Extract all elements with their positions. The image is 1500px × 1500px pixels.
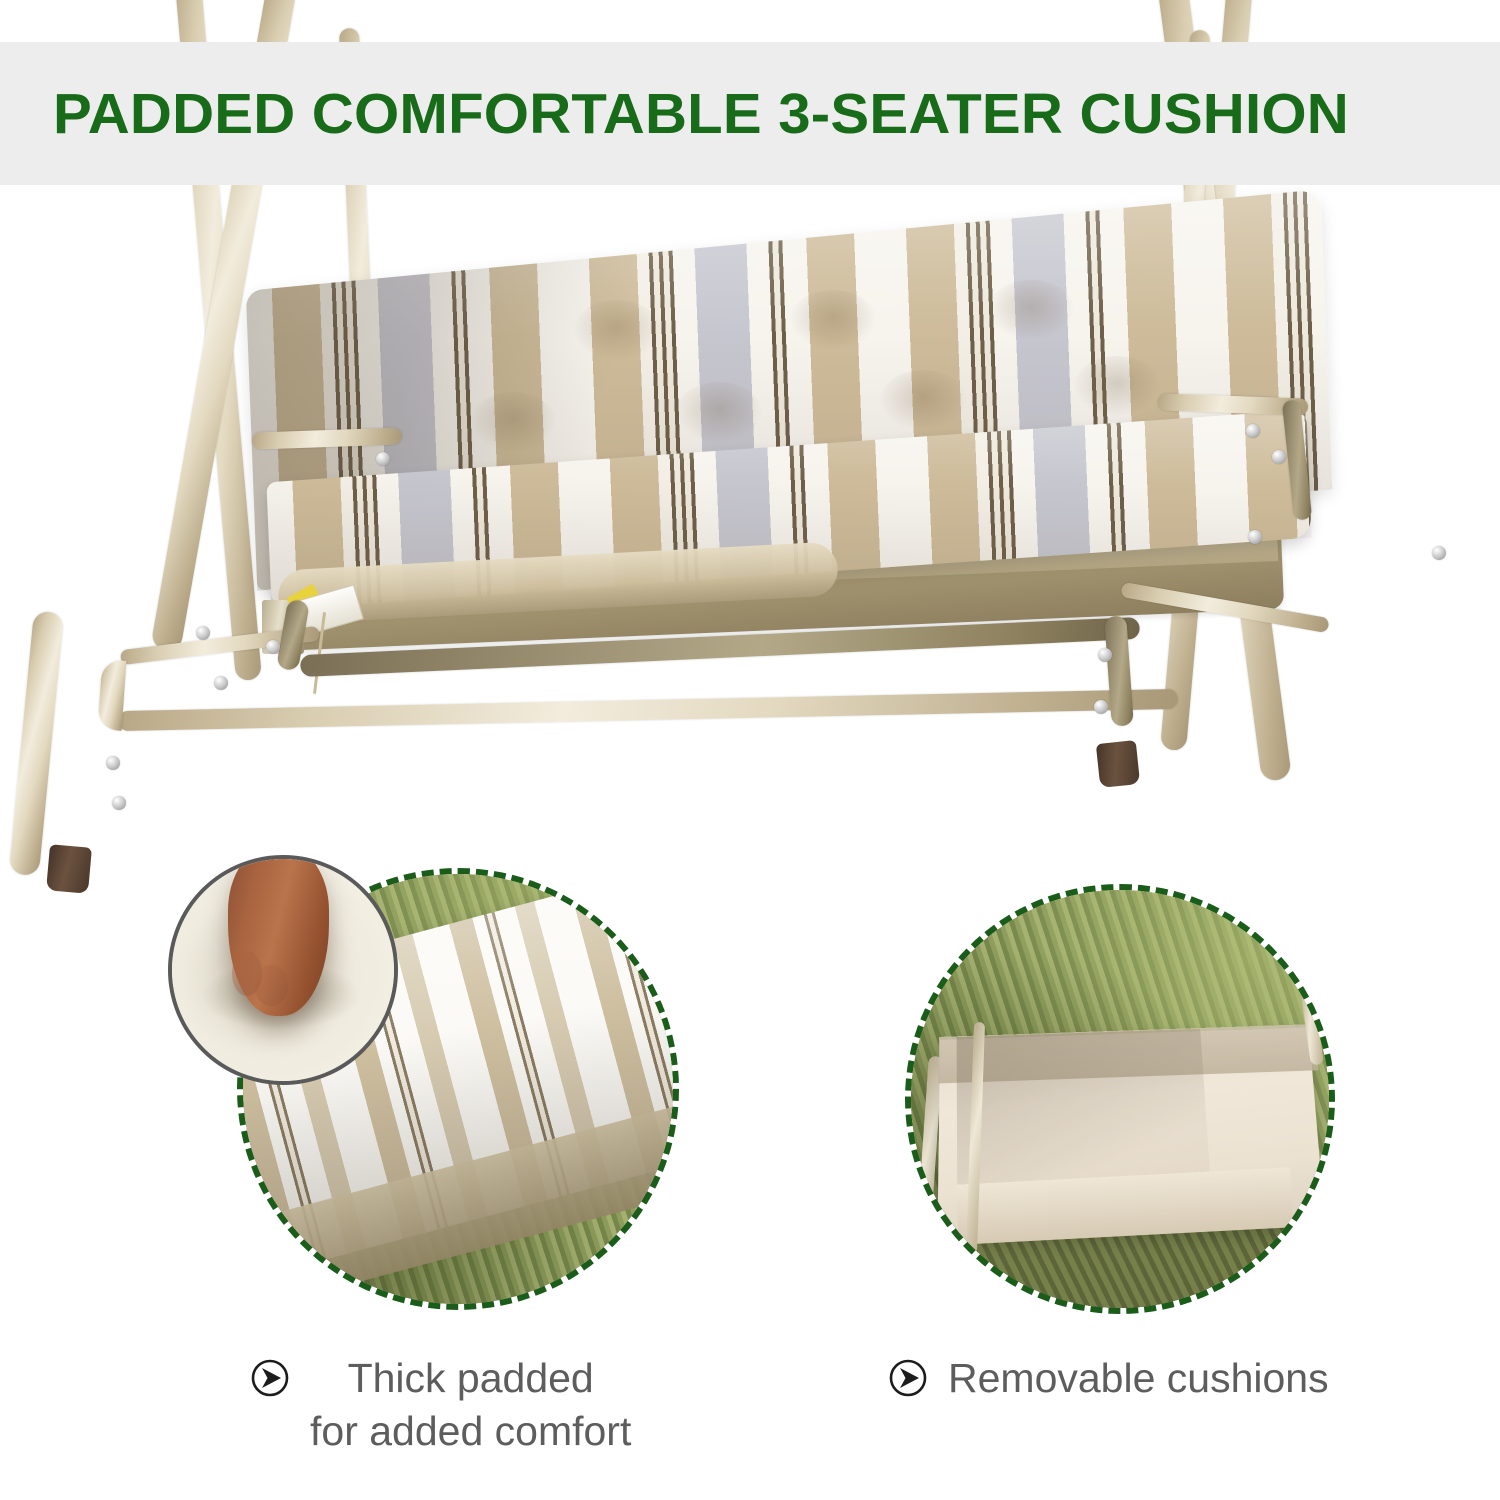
bolt	[214, 676, 228, 690]
fist-icon	[228, 855, 329, 1016]
bolt	[196, 626, 210, 640]
bolt	[266, 640, 280, 654]
feature-caption-label: Thick padded for added comfort	[310, 1352, 631, 1459]
knuckle	[254, 965, 288, 1006]
foot-cap-left	[46, 844, 92, 893]
bolt	[1094, 700, 1108, 714]
inset-photo-hand-pressing-foam	[168, 855, 398, 1085]
circled-arrow-icon	[250, 1358, 290, 1411]
feature-caption-thick-padded: Thick padded for added comfort	[250, 1352, 680, 1459]
bolt	[376, 452, 390, 466]
bolt	[106, 756, 120, 770]
inset-photo-bare-swing-seat	[905, 884, 1335, 1314]
product-feature-image: PADDED COMFORTABLE 3-SEATER CUSHION	[0, 0, 1500, 1500]
frame-bottom-rail	[118, 689, 1178, 731]
bolt	[1432, 546, 1446, 560]
bolt	[1248, 530, 1262, 544]
feature-caption-label: Removable cushions	[948, 1352, 1329, 1405]
frame-bottom-rail-curve	[98, 659, 127, 731]
bolt	[1246, 424, 1260, 438]
bolt	[1098, 648, 1112, 662]
bolt	[1272, 450, 1286, 464]
feature-caption-removable-cushions: Removable cushions	[888, 1352, 1408, 1411]
circled-arrow-icon	[888, 1358, 928, 1411]
foot-cap-right	[1096, 740, 1140, 788]
headline-banner: PADDED COMFORTABLE 3-SEATER CUSHION	[0, 42, 1500, 185]
detail-inset-foam-press	[168, 855, 398, 1085]
frame-leg-outer-left	[9, 611, 64, 877]
bolt	[112, 796, 126, 810]
page-title: PADDED COMFORTABLE 3-SEATER CUSHION	[0, 81, 1349, 147]
feature-inset-removable-cushions	[905, 884, 1335, 1314]
